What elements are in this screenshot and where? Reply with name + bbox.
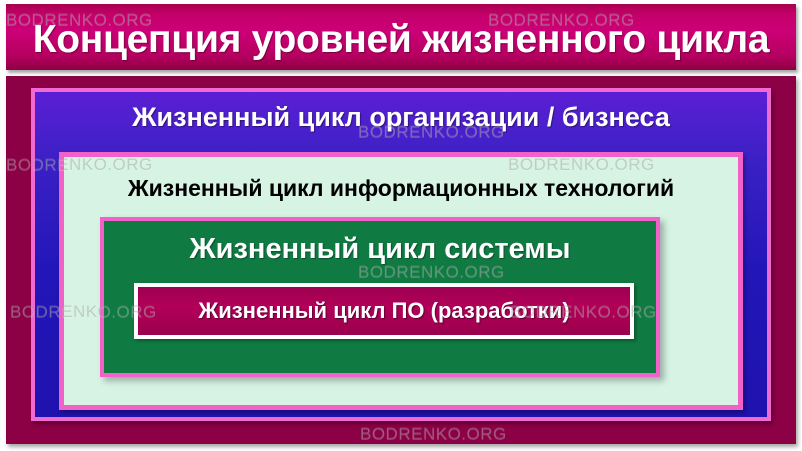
level-box-organization[interactable]: Жизненный цикл организации / бизнеса Жиз… — [31, 88, 771, 421]
level-box-system[interactable]: Жизненный цикл системы Жизненный цикл ПО… — [100, 217, 660, 377]
slide-title: Концепция уровней жизненного цикла — [6, 4, 796, 70]
level-label-information-technologies: Жизненный цикл информационных технологий — [64, 175, 738, 202]
slide-title-bar: Концепция уровней жизненного цикла — [6, 4, 796, 70]
level-label-software: Жизненный цикл ПО (разработки) — [138, 287, 630, 335]
level-label-organization: Жизненный цикл организации / бизнеса — [35, 102, 767, 133]
level-box-information-technologies[interactable]: Жизненный цикл информационных технологий… — [59, 152, 743, 410]
diagram-outer-panel: Жизненный цикл организации / бизнеса Жиз… — [6, 76, 796, 444]
level-box-software[interactable]: Жизненный цикл ПО (разработки) — [134, 283, 634, 339]
slide-canvas: Концепция уровней жизненного цикла Жизне… — [0, 0, 802, 451]
level-label-system: Жизненный цикл системы — [104, 233, 656, 266]
